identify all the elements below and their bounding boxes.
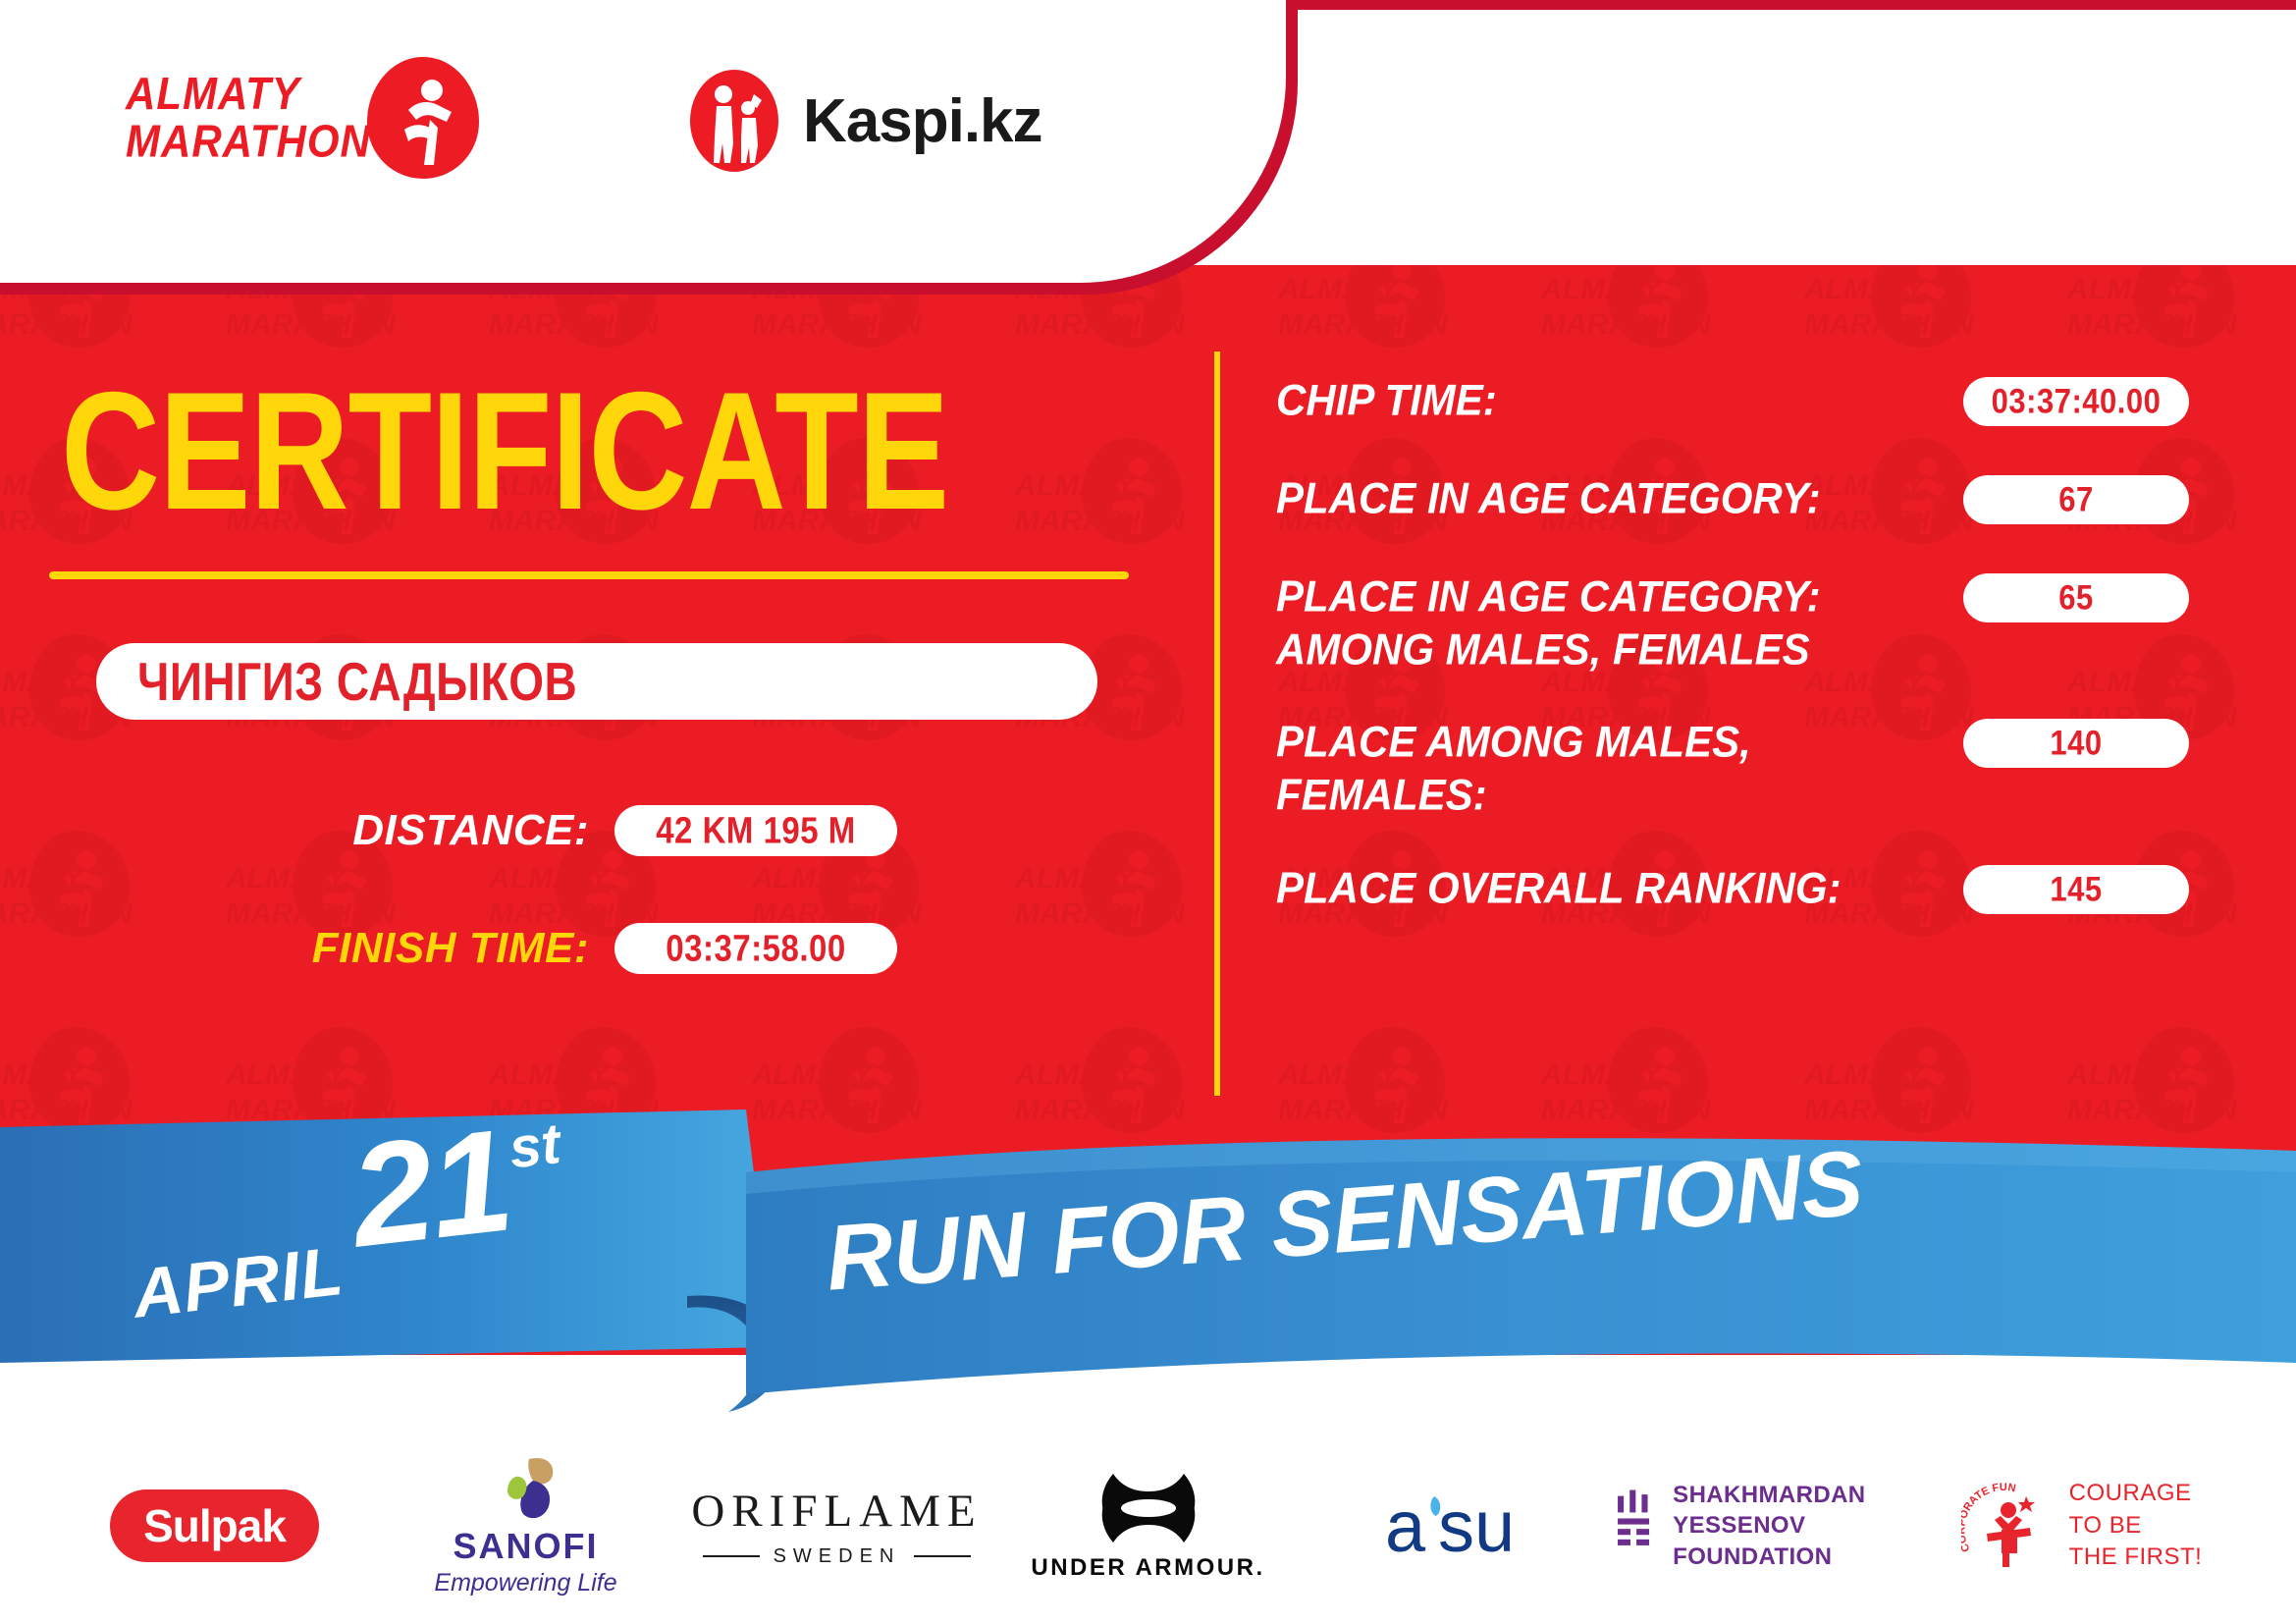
sanofi-wordmark: SANOFI	[453, 1526, 598, 1567]
stat-label: PLACE IN AGE CATEGORY:	[1276, 471, 1963, 524]
yessenov-name-line1: SHAKHMARDAN YESSENOV	[1673, 1480, 1926, 1541]
almaty-logo-line1: ALMATY	[126, 70, 371, 118]
certificate-page: ALMATYMARATHONALMATYMARATHONALMATYMARATH…	[0, 0, 2296, 1624]
courage-fund-icon: CORPORATE FUND	[1961, 1479, 2056, 1573]
under-armour-wordmark: UNDER ARMOUR.	[1031, 1554, 1264, 1582]
stat-value: 65	[2058, 577, 2093, 618]
svg-text:ALMATY: ALMATY	[1277, 1058, 1402, 1091]
watermark-tile: ALMATYMARATHON	[1276, 265, 1472, 383]
stat-row-place-age-category-gender: PLACE IN AGE CATEGORY: AMONG MALES, FEMA…	[1276, 569, 2189, 670]
svg-text:ALMATY: ALMATY	[488, 1058, 613, 1091]
oriflame-sub-row: SWEDEN	[703, 1545, 972, 1568]
stat-value-pill: 65	[1963, 573, 2189, 623]
yessenov-wordmark: SHAKHMARDAN YESSENOV FOUNDATION	[1673, 1480, 1926, 1572]
stat-value: 67	[2058, 479, 2093, 519]
svg-text:ALMATY: ALMATY	[0, 862, 86, 894]
svg-text:su: su	[1438, 1487, 1515, 1565]
participant-name: ЧИНГИЗ САДЫКОВ	[137, 650, 577, 713]
courage-logo-group: CORPORATE FUND COURAGE TO BE THE FIRST!	[1961, 1478, 2203, 1573]
svg-text:ALMATY: ALMATY	[1803, 273, 1928, 305]
distance-label: DISTANCE:	[265, 806, 589, 855]
event-day: 21	[344, 1097, 519, 1280]
svg-text:MARATHON: MARATHON	[489, 308, 660, 341]
yessenov-foundation-icon	[1615, 1489, 1655, 1563]
stat-row-place-overall: PLACE OVERALL RANKING: 145	[1276, 861, 2189, 914]
svg-text:MARATHON: MARATHON	[1541, 308, 1712, 341]
sulpak-logo: Sulpak	[110, 1489, 319, 1562]
courage-line2: TO BE	[2069, 1510, 2203, 1542]
participant-name-field: ЧИНГИЗ САДЫКОВ	[96, 643, 1097, 720]
watermark-tile: ALMATYMARATHON	[2065, 265, 2262, 383]
svg-text:ALMATY: ALMATY	[1014, 1058, 1139, 1091]
kaspi-wordmark: Kaspi.kz	[803, 86, 1042, 156]
oriflame-dash-left	[703, 1555, 760, 1557]
svg-text:MARATHON: MARATHON	[752, 308, 923, 341]
svg-text:ALMATY: ALMATY	[225, 862, 349, 894]
svg-text:ALMATY: ALMATY	[225, 1058, 349, 1091]
sponsor-sulpak: Sulpak	[59, 1489, 370, 1562]
stat-label: PLACE OVERALL RANKING:	[1276, 861, 1963, 914]
svg-text:ALMATY: ALMATY	[2066, 1058, 2191, 1091]
svg-text:ALMATY: ALMATY	[1014, 469, 1139, 502]
runner-drop-icon	[365, 55, 481, 181]
svg-text:MARATHON: MARATHON	[0, 897, 133, 930]
sanofi-tagline: Empowering Life	[434, 1569, 616, 1597]
svg-text:ALMATY: ALMATY	[1014, 862, 1139, 894]
finish-time-value-pill: 03:37:58.00	[614, 923, 897, 974]
svg-text:ALMATY: ALMATY	[0, 1058, 86, 1091]
courage-line1: COURAGE	[2069, 1478, 2203, 1509]
almaty-marathon-logo: ALMATY MARATHON	[126, 55, 481, 181]
finish-time-row: FINISH TIME: 03:37:58.00	[265, 923, 897, 974]
finish-time-value: 03:37:58.00	[666, 927, 845, 970]
vertical-divider	[1214, 352, 1220, 1096]
sponsor-under-armour: UNDER ARMOUR.	[992, 1470, 1304, 1582]
title-underline	[49, 571, 1129, 579]
watermark-tile: ALMATYMARATHON	[1539, 265, 1735, 383]
svg-text:MARATHON: MARATHON	[226, 308, 397, 341]
svg-text:ALMATY: ALMATY	[751, 1058, 876, 1091]
stat-label: PLACE AMONG MALES, FEMALES:	[1276, 715, 1963, 822]
sponsor-sanofi: SANOFI Empowering Life	[370, 1455, 681, 1597]
stat-row-place-among-gender: PLACE AMONG MALES, FEMALES: 140	[1276, 715, 2189, 815]
courage-slogan: COURAGE TO BE THE FIRST!	[2069, 1478, 2203, 1573]
watermark-tile: ALMATYMARATHON	[1802, 265, 1999, 383]
almaty-logo-line2: MARATHON	[126, 118, 371, 166]
stat-value: 140	[2050, 724, 2102, 764]
svg-text:ALMATY: ALMATY	[1540, 1058, 1665, 1091]
courage-line3: THE FIRST!	[2069, 1542, 2203, 1573]
svg-text:MARATHON: MARATHON	[2067, 308, 2238, 341]
finish-time-label: FINISH TIME:	[265, 924, 589, 973]
sponsor-oriflame: ORIFLAME SWEDEN	[681, 1485, 992, 1568]
stat-value: 145	[2050, 869, 2102, 909]
yessenov-logo-group: SHAKHMARDAN YESSENOV FOUNDATION	[1615, 1480, 1926, 1572]
kaspi-logo: Kaspi.kz	[687, 69, 1042, 173]
svg-text:MARATHON: MARATHON	[1804, 308, 1975, 341]
oriflame-dash-right	[914, 1555, 971, 1557]
asu-logo: a su	[1381, 1487, 1538, 1565]
event-day-suffix: st	[506, 1110, 563, 1181]
svg-text:MARATHON: MARATHON	[1278, 308, 1449, 341]
svg-text:ALMATY: ALMATY	[0, 666, 86, 698]
oriflame-country: SWEDEN	[774, 1545, 901, 1568]
watermark-tile: ALMATYMARATHON	[1013, 432, 1209, 579]
stat-value: 03:37:40.00	[1992, 381, 2162, 421]
svg-text:ALMATY: ALMATY	[1277, 273, 1402, 305]
yessenov-name-line2: FOUNDATION	[1673, 1542, 1926, 1572]
svg-text:ALMATY: ALMATY	[1540, 273, 1665, 305]
sponsor-strip: Sulpak SANOFI Empowering Life ORIFLAME S…	[0, 1428, 2296, 1624]
distance-row: DISTANCE: 42 KM 195 M	[265, 805, 897, 856]
oriflame-wordmark: ORIFLAME	[691, 1485, 982, 1538]
almaty-marathon-wordmark: ALMATY MARATHON	[126, 70, 371, 165]
watermark-tile: ALMATYMARATHON	[1013, 825, 1209, 972]
svg-text:MARATHON: MARATHON	[0, 308, 133, 341]
watermark-tile: ALMATYMARATHON	[0, 825, 157, 972]
stat-row-place-age-category: PLACE IN AGE CATEGORY: 67	[1276, 471, 2189, 524]
sponsor-courage-fund: CORPORATE FUND COURAGE TO BE THE FIRST!	[1926, 1478, 2237, 1573]
svg-text:MARATHON: MARATHON	[1015, 308, 1186, 341]
stat-value-pill: 67	[1963, 475, 2189, 524]
distance-value-pill: 42 KM 195 M	[614, 805, 897, 856]
svg-text:ALMATY: ALMATY	[2066, 273, 2191, 305]
svg-text:a: a	[1385, 1487, 1426, 1565]
under-armour-icon	[1095, 1470, 1201, 1546]
sanofi-logo	[490, 1455, 562, 1524]
stat-row-chip-time: CHIP TIME: 03:37:40.00	[1276, 373, 2189, 426]
sponsor-yessenov: SHAKHMARDAN YESSENOV FOUNDATION	[1615, 1480, 1926, 1572]
distance-value: 42 KM 195 M	[656, 809, 856, 852]
kaspi-figures-icon	[687, 69, 781, 173]
stat-label: PLACE IN AGE CATEGORY: AMONG MALES, FEMA…	[1276, 569, 1963, 677]
svg-text:MARATHON: MARATHON	[1015, 897, 1186, 930]
stats-column: CHIP TIME: 03:37:40.00 PLACE IN AGE CATE…	[1276, 373, 2189, 959]
stat-value-pill: 140	[1963, 719, 2189, 768]
stat-value-pill: 03:37:40.00	[1963, 377, 2189, 426]
sponsor-asu: a su	[1304, 1487, 1615, 1565]
stat-label: CHIP TIME:	[1276, 373, 1963, 426]
stat-value-pill: 145	[1963, 865, 2189, 914]
page-title: CERTIFICATE	[61, 367, 948, 535]
svg-text:ALMATY: ALMATY	[488, 862, 613, 894]
svg-text:ALMATY: ALMATY	[1803, 1058, 1928, 1091]
svg-text:ALMATY: ALMATY	[751, 862, 876, 894]
svg-text:MARATHON: MARATHON	[1015, 505, 1186, 537]
